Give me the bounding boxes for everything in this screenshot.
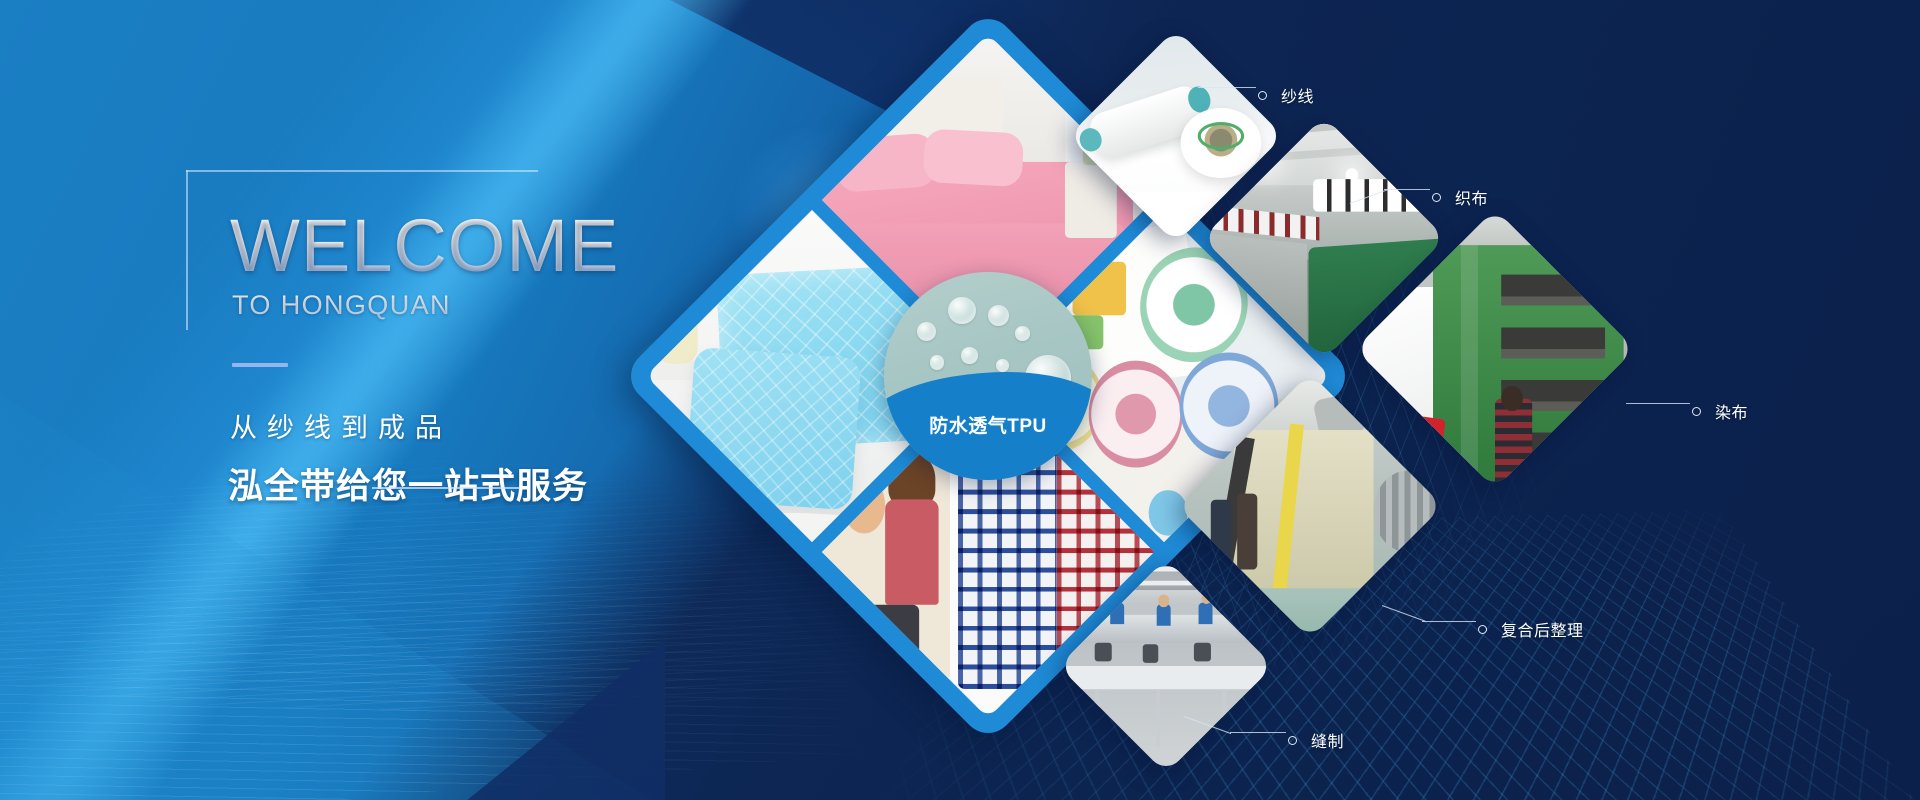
hero-banner: WELCOME TO HONGQUAN 从纱线到成品 泓全带给您一站式服务 [0, 0, 1920, 800]
slogan-cn: 泓全带给您一站式服务 [228, 458, 588, 509]
callout-weaving: 织布 [1432, 185, 1488, 209]
callout-label-yarn: 纱线 [1281, 83, 1314, 107]
process-node-weaving [1238, 152, 1410, 324]
divider-line-bottom [372, 487, 520, 489]
callout-label-dyeing: 染布 [1715, 399, 1748, 423]
callout-finishing: 复合后整理 [1478, 617, 1584, 641]
callout-label-weaving: 织布 [1455, 185, 1488, 209]
callout-sewing: 缝制 [1288, 728, 1344, 752]
process-node-sewing [1090, 590, 1242, 742]
accent-rule [232, 363, 288, 367]
badge-label: 防水透气TPU [884, 411, 1092, 438]
callout-dyeing: 染布 [1692, 399, 1748, 423]
status-badge: 防水透气TPU [884, 272, 1092, 480]
frame-line-left [186, 170, 188, 330]
callout-dot-icon [1288, 736, 1297, 745]
frame-line-top [186, 170, 538, 172]
page-title: WELCOME [230, 210, 619, 283]
callout-dot-icon [1692, 407, 1701, 416]
process-node-finishing [1216, 412, 1404, 600]
callout-yarn: 纱线 [1258, 83, 1314, 107]
callout-dot-icon [1258, 91, 1267, 100]
process-node-yarn [1100, 60, 1252, 212]
process-node-dyeing [1396, 250, 1594, 448]
callout-label-finishing: 复合后整理 [1501, 617, 1584, 641]
page-subtitle: TO HONGQUAN [232, 290, 451, 321]
tagline-cn: 从纱线到成品 [230, 406, 452, 445]
callout-dot-icon [1432, 193, 1441, 202]
callout-dot-icon [1478, 625, 1487, 634]
callout-label-sewing: 缝制 [1311, 728, 1344, 752]
